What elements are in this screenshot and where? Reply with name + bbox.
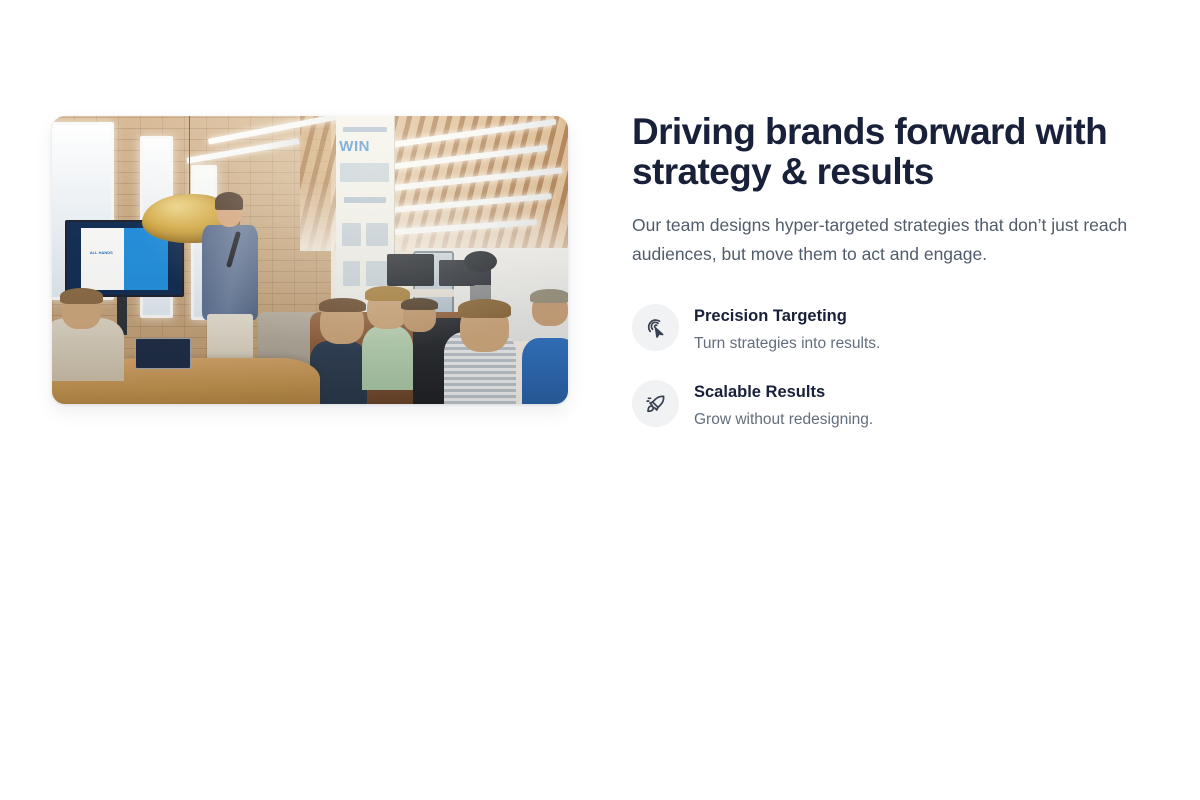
feature-item-scalable-results: Scalable Results Grow without redesignin… xyxy=(632,379,1152,430)
audience-head xyxy=(460,303,509,352)
office-meeting-photo: WIN ALL HANDS xyxy=(52,116,568,404)
mural-win-text: WIN xyxy=(339,139,370,154)
mural-sketch xyxy=(366,223,388,246)
content-column: Driving brands forward with strategy & r… xyxy=(632,112,1152,430)
laptop xyxy=(135,338,192,370)
pendant-cord xyxy=(189,116,190,197)
feature-list: Precision Targeting Turn strategies into… xyxy=(632,303,1152,430)
feature-item-precision-targeting: Precision Targeting Turn strategies into… xyxy=(632,303,1152,354)
mural-sketch xyxy=(340,163,389,182)
presenter-shorts xyxy=(207,314,253,362)
mural-sketch xyxy=(343,127,387,132)
desk-monitor xyxy=(387,254,433,286)
cursor-click-icon xyxy=(632,304,679,351)
feature-text: Scalable Results Grow without redesignin… xyxy=(694,379,873,430)
rocket-icon xyxy=(632,380,679,427)
audience-head xyxy=(403,300,437,332)
feature-description: Grow without redesigning. xyxy=(694,409,873,430)
photo-scene: WIN ALL HANDS xyxy=(52,116,568,404)
presenter-hair xyxy=(215,192,243,211)
audience-body xyxy=(362,326,414,389)
feature-title: Precision Targeting xyxy=(694,305,880,327)
page-root: WIN ALL HANDS xyxy=(0,0,1200,800)
slide-title: ALL HANDS xyxy=(74,250,129,256)
feature-description: Turn strategies into results. xyxy=(694,333,880,354)
audience-head xyxy=(532,292,568,327)
mural-sketch xyxy=(366,261,387,287)
audience-head xyxy=(320,300,364,343)
mural-sketch xyxy=(343,261,360,287)
presenter-shirt xyxy=(202,225,258,320)
audience-body xyxy=(522,338,568,404)
seated-attendee-head xyxy=(62,292,101,329)
media-column: WIN ALL HANDS xyxy=(52,116,568,404)
mural-sketch xyxy=(342,223,362,246)
mural-sketch xyxy=(344,197,386,203)
section-subheading: Our team designs hyper-targeted strategi… xyxy=(632,211,1148,269)
feature-title: Scalable Results xyxy=(694,381,873,403)
section-headline: Driving brands forward with strategy & r… xyxy=(632,112,1152,192)
feature-text: Precision Targeting Turn strategies into… xyxy=(694,303,880,354)
